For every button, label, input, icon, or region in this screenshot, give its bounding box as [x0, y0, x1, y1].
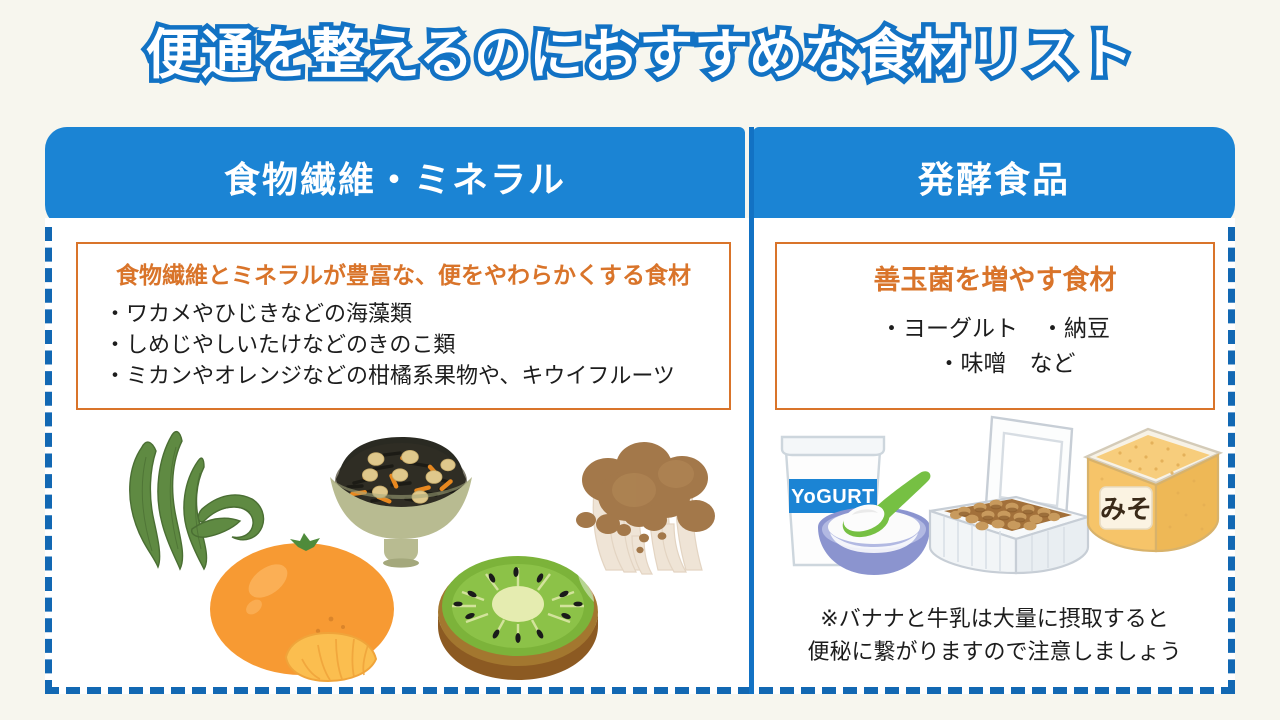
yogurt-illustration: YoGURT: [760, 423, 935, 583]
list-item: ・ワカメやひじきなどの海藻類: [104, 298, 715, 329]
page-title-container: 便通を整えるのにおすすめな食材リスト: [0, 26, 1280, 85]
miso-illustration: みそ: [1078, 419, 1228, 569]
page-title: 便通を整えるのにおすすめな食材リスト: [146, 26, 1134, 85]
fiber-mineral-list: ・ワカメやひじきなどの海藻類 ・しめじやしいたけなどのきのこ類 ・ミカンやオレン…: [92, 298, 715, 392]
list-item: ・ミカンやオレンジなどの柑橘系果物や、キウイフルーツ: [104, 360, 715, 391]
fermented-list: ・ヨーグルト ・納豆 ・味噌 など: [787, 311, 1203, 380]
caution-note-line-1: ※バナナと牛乳は大量に摂取すると: [754, 602, 1235, 635]
list-item: ・ヨーグルト ・納豆: [787, 311, 1203, 346]
fermented-box-title: 善玉菌を増やす食材: [787, 258, 1203, 297]
yogurt-label-text: YoGURT: [791, 486, 875, 508]
column-fermented: 善玉菌を増やす食材 ・ヨーグルト ・納豆 ・味噌 など YoGURT: [754, 227, 1235, 694]
kiwi-fruit-illustration: [428, 540, 608, 690]
fiber-mineral-box-title: 食物繊維とミネラルが豊富な、便をやわらかくする食材: [92, 256, 715, 290]
category-headers: 食物繊維・ミネラル 発酵食品: [45, 127, 1235, 227]
caution-note-line-2: 便秘に繋がりますので注意しましょう: [754, 635, 1235, 668]
column-fiber-mineral: 食物繊維とミネラルが豊富な、便をやわらかくする食材 ・ワカメやひじきなどの海藻類…: [52, 227, 749, 694]
mandarin-orange-illustration: [204, 533, 409, 683]
list-item: ・しめじやしいたけなどのきのこ類: [104, 329, 715, 360]
fiber-mineral-info-box: 食物繊維とミネラルが豊富な、便をやわらかくする食材 ・ワカメやひじきなどの海藻類…: [76, 242, 731, 410]
category-header-fermented: 発酵食品: [753, 127, 1235, 227]
caution-note: ※バナナと牛乳は大量に摂取すると 便秘に繋がりますので注意しましょう: [754, 602, 1235, 668]
list-item: ・味噌 など: [787, 346, 1203, 381]
fermented-info-box: 善玉菌を増やす食材 ・ヨーグルト ・納豆 ・味噌 など: [775, 242, 1215, 410]
miso-label-text: みそ: [1100, 494, 1152, 524]
natto-illustration: [920, 407, 1100, 582]
category-header-fiber-mineral: 食物繊維・ミネラル: [45, 127, 745, 227]
